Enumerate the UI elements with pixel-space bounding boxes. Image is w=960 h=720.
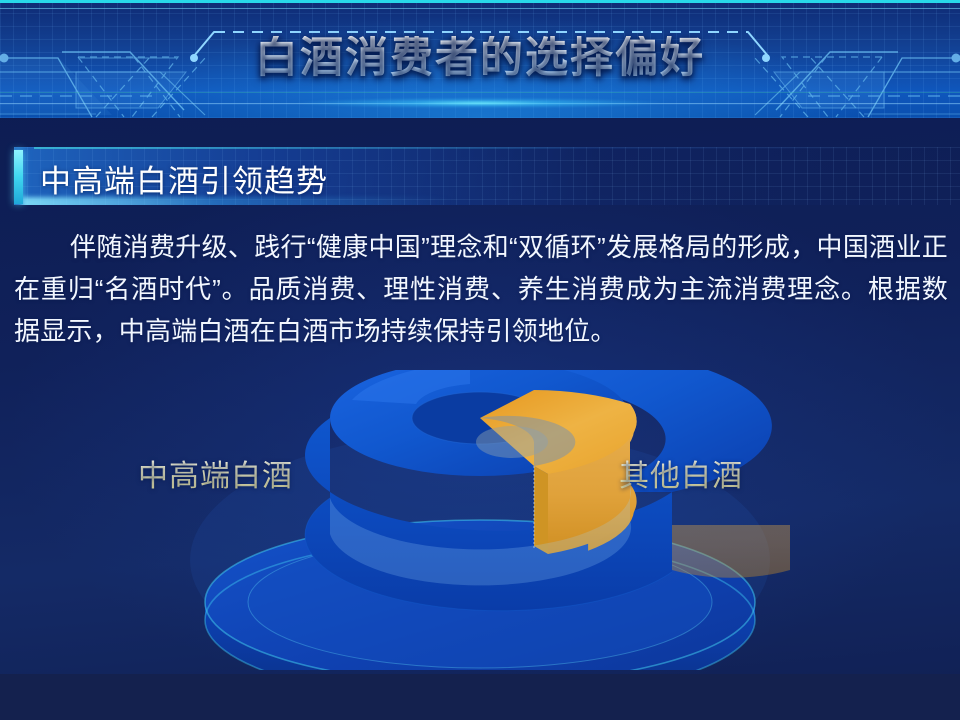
pie-chart-3d [0, 370, 960, 670]
header-top-accent [0, 0, 960, 3]
chart-label-premium: 中高端白酒 [138, 451, 293, 495]
section-accent-bar [14, 150, 23, 204]
slide-canvas: 白酒消费者的选择偏好 中高端白酒引领趋势 伴随消费升级、践行“健康中国”理念和“… [0, 0, 960, 720]
header-center-flare [220, 96, 740, 110]
header-top-hairline [0, 8, 960, 9]
page-title: 白酒消费者的选择偏好 [0, 36, 960, 81]
section-subtitle: 中高端白酒引领趋势 [40, 156, 328, 201]
body-paragraph: 伴随消费升级、践行“健康中国”理念和“双循环”发展格局的形成，中国酒业正在重归“… [14, 226, 948, 352]
chart-label-other: 其他白酒 [619, 451, 743, 495]
header-thin-line [0, 92, 960, 93]
data-source-note: ◎数据来源:苏宁易购酒水公司 [8, 685, 281, 714]
band-top-edge [34, 147, 960, 149]
